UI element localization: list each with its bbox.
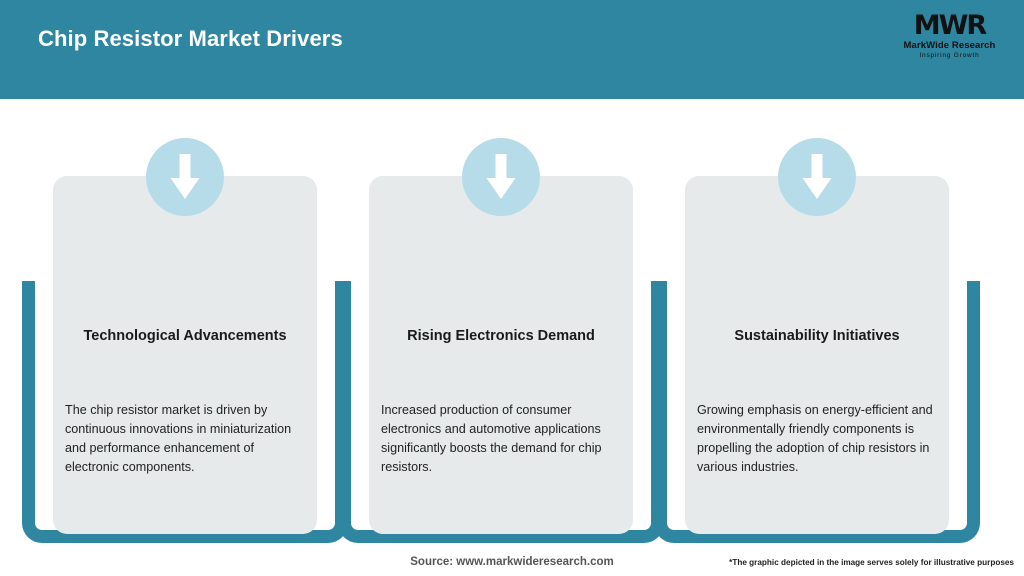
page-title: Chip Resistor Market Drivers	[38, 26, 343, 52]
cards-area: Technological Advancements The chip resi…	[0, 99, 1024, 576]
logo-company-name: MarkWide Research	[904, 40, 996, 51]
header-band: Chip Resistor Market Drivers MWR MarkWid…	[0, 0, 1024, 99]
card-body-text: The chip resistor market is driven by co…	[65, 401, 307, 478]
card-title: Technological Advancements	[63, 328, 307, 344]
card-title: Rising Electronics Demand	[379, 328, 623, 344]
card-panel: Sustainability Initiatives Growing empha…	[685, 176, 949, 534]
logo-mark-text: MWR	[914, 12, 985, 39]
card-body-text: Growing emphasis on energy-efficient and…	[697, 401, 939, 478]
logo-tagline: Inspiring Growth	[919, 52, 979, 60]
down-arrow-icon	[778, 138, 856, 216]
driver-card-3: Sustainability Initiatives Growing empha…	[654, 99, 980, 576]
card-body-text: Increased production of consumer electro…	[381, 401, 623, 478]
card-panel: Rising Electronics Demand Increased prod…	[369, 176, 633, 534]
card-panel: Technological Advancements The chip resi…	[53, 176, 317, 534]
brand-logo: MWR MarkWide Research Inspiring Growth	[897, 8, 1002, 64]
down-arrow-icon	[146, 138, 224, 216]
driver-card-2: Rising Electronics Demand Increased prod…	[338, 99, 664, 576]
down-arrow-icon	[462, 138, 540, 216]
disclaimer-note: *The graphic depicted in the image serve…	[729, 558, 1014, 567]
card-title: Sustainability Initiatives	[695, 328, 939, 344]
driver-card-1: Technological Advancements The chip resi…	[22, 99, 348, 576]
